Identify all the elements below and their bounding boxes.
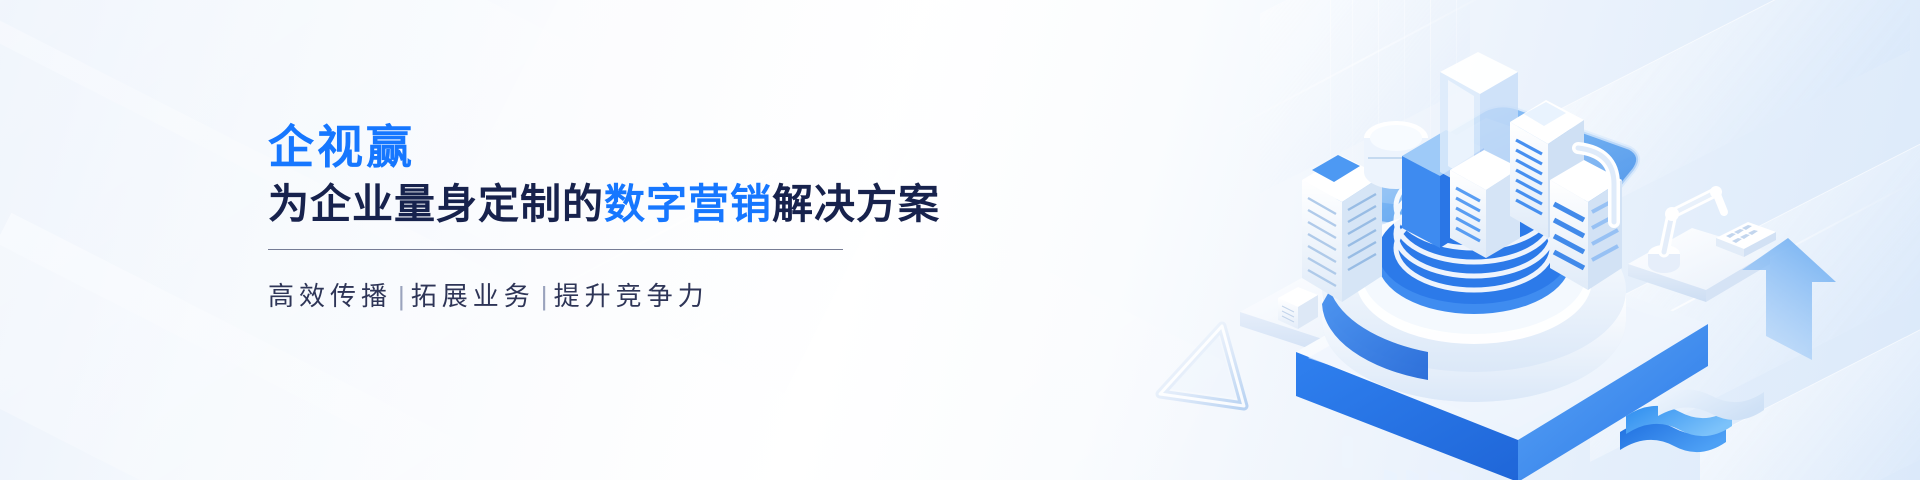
tagline-separator: | xyxy=(392,281,411,311)
headline-highlight: 数字营销 xyxy=(604,181,772,227)
tagline-separator: | xyxy=(535,281,554,311)
tagline: 高效传播|拓展业务|提升竞争力 xyxy=(268,276,908,313)
headline-prefix: 为企业量身定制的 xyxy=(268,181,604,227)
tagline-item-2: 拓展业务 xyxy=(411,281,535,311)
smart-city-stage-icon xyxy=(1278,52,1838,480)
tagline-item-1: 高效传播 xyxy=(268,281,392,311)
marketing-hero-banner: 企视赢 为企业量身定制的数字营销解决方案 高效传播|拓展业务|提升竞争力 xyxy=(0,0,1920,480)
hero-copy: 企视赢 为企业量身定制的数字营销解决方案 高效传播|拓展业务|提升竞争力 xyxy=(268,122,908,313)
headline: 为企业量身定制的数字营销解决方案 xyxy=(268,180,908,229)
headline-divider xyxy=(268,249,843,250)
headline-suffix: 解决方案 xyxy=(772,181,940,227)
hero-illustration xyxy=(1020,0,1920,480)
brand-title: 企视赢 xyxy=(268,122,908,174)
tagline-item-3: 提升竞争力 xyxy=(554,281,709,311)
